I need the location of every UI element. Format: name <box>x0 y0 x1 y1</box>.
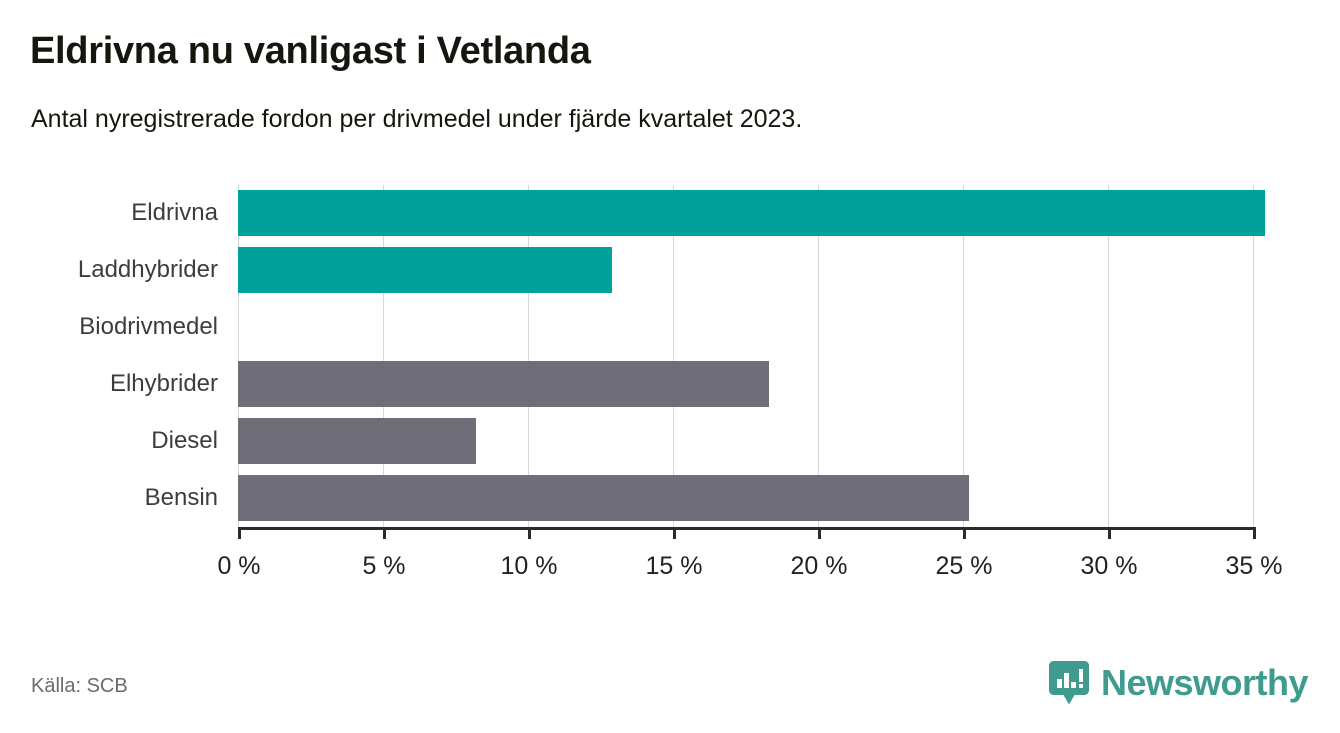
x-axis-label-15: 15 % <box>604 552 744 581</box>
x-axis-label-10: 10 % <box>459 552 599 581</box>
bar-eldrivna[interactable] <box>238 190 1265 236</box>
y-axis-label-biodrivmedel: Biodrivmedel <box>0 313 218 341</box>
chart-page: Eldrivna nu vanligast i Vetlanda Antal n… <box>0 0 1340 733</box>
x-tick-30 <box>1108 527 1111 539</box>
logo-wordmark: Newsworthy <box>1101 665 1308 701</box>
bar-laddhybrider[interactable] <box>238 247 612 293</box>
x-tick-20 <box>818 527 821 539</box>
chart-plot: 0 %5 %10 %15 %20 %25 %30 %35 %EldrivnaLa… <box>0 0 1340 733</box>
bar-row <box>238 413 1253 470</box>
bar-elhybrider[interactable] <box>238 361 769 407</box>
y-axis-label-bensin: Bensin <box>0 484 218 512</box>
x-tick-5 <box>383 527 386 539</box>
newsworthy-logo: Newsworthy <box>1048 659 1308 707</box>
x-tick-0 <box>238 527 241 539</box>
x-axis-label-30: 30 % <box>1039 552 1179 581</box>
newsworthy-bars-bubble-icon <box>1048 660 1090 706</box>
x-axis-label-20: 20 % <box>749 552 889 581</box>
bar-row <box>238 185 1253 242</box>
bar-row <box>238 242 1253 299</box>
bar-row <box>238 470 1253 527</box>
x-tick-35 <box>1253 527 1256 539</box>
y-axis-label-elhybrider: Elhybrider <box>0 370 218 398</box>
x-axis-line <box>238 527 1254 530</box>
gridline-35 <box>1253 185 1254 527</box>
bar-diesel[interactable] <box>238 418 476 464</box>
x-axis-label-0: 0 % <box>169 552 309 581</box>
x-tick-10 <box>528 527 531 539</box>
bar-bensin[interactable] <box>238 475 969 521</box>
bar-row <box>238 299 1253 356</box>
x-tick-15 <box>673 527 676 539</box>
x-axis-label-35: 35 % <box>1184 552 1324 581</box>
y-axis-label-diesel: Diesel <box>0 427 218 455</box>
bar-row <box>238 356 1253 413</box>
plot-area <box>238 185 1253 527</box>
x-axis-label-25: 25 % <box>894 552 1034 581</box>
x-axis-label-5: 5 % <box>314 552 454 581</box>
source-note: Källa: SCB <box>31 675 128 698</box>
y-axis-label-eldrivna: Eldrivna <box>0 199 218 227</box>
x-tick-25 <box>963 527 966 539</box>
y-axis-label-laddhybrider: Laddhybrider <box>0 256 218 284</box>
